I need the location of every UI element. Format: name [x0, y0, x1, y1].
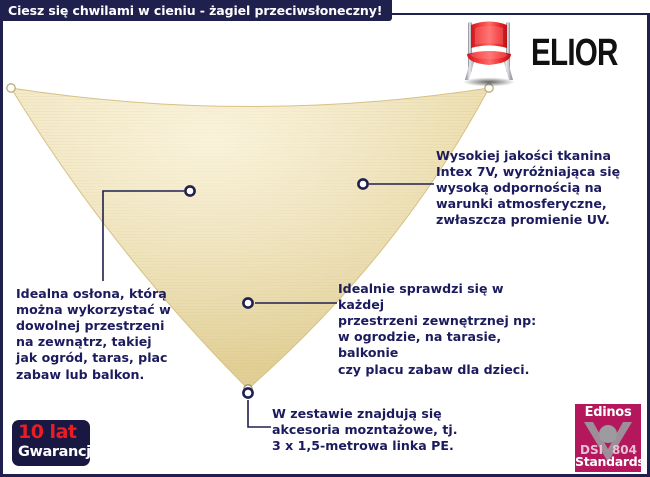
callout-text-fabric: Wysokiej jakości tkanina Intex 7V, wyróż… [436, 148, 646, 229]
warranty-years-label: 10 lat [18, 422, 85, 443]
edinos-standards-label: Standards [575, 454, 641, 469]
callout-text-space: Idealnie sprawdzi się w każdej przestrze… [338, 281, 553, 378]
brand-lockup: ELIOR [446, 18, 636, 88]
red-chair-icon [453, 18, 525, 88]
warranty-badge: 10 lat Gwarancji [12, 420, 90, 466]
brand-name: ELIOR [531, 34, 613, 72]
edinos-certificate-badge: Edinos DSI 804 Standards [575, 404, 641, 472]
headline-banner: Ciesz się chwilami w cieniu - żagiel prz… [0, 0, 392, 21]
callout-text-kit: W zestawie znajdują się akcesoria moznta… [272, 406, 502, 454]
promo-infographic: Ciesz się chwilami w cieniu - żagiel prz… [0, 0, 650, 477]
warranty-word-label: Gwarancji [18, 443, 85, 461]
edinos-title-label: Edinos [575, 405, 641, 420]
callout-text-left: Idealna osłona, którą można wykorzystać … [16, 286, 216, 383]
